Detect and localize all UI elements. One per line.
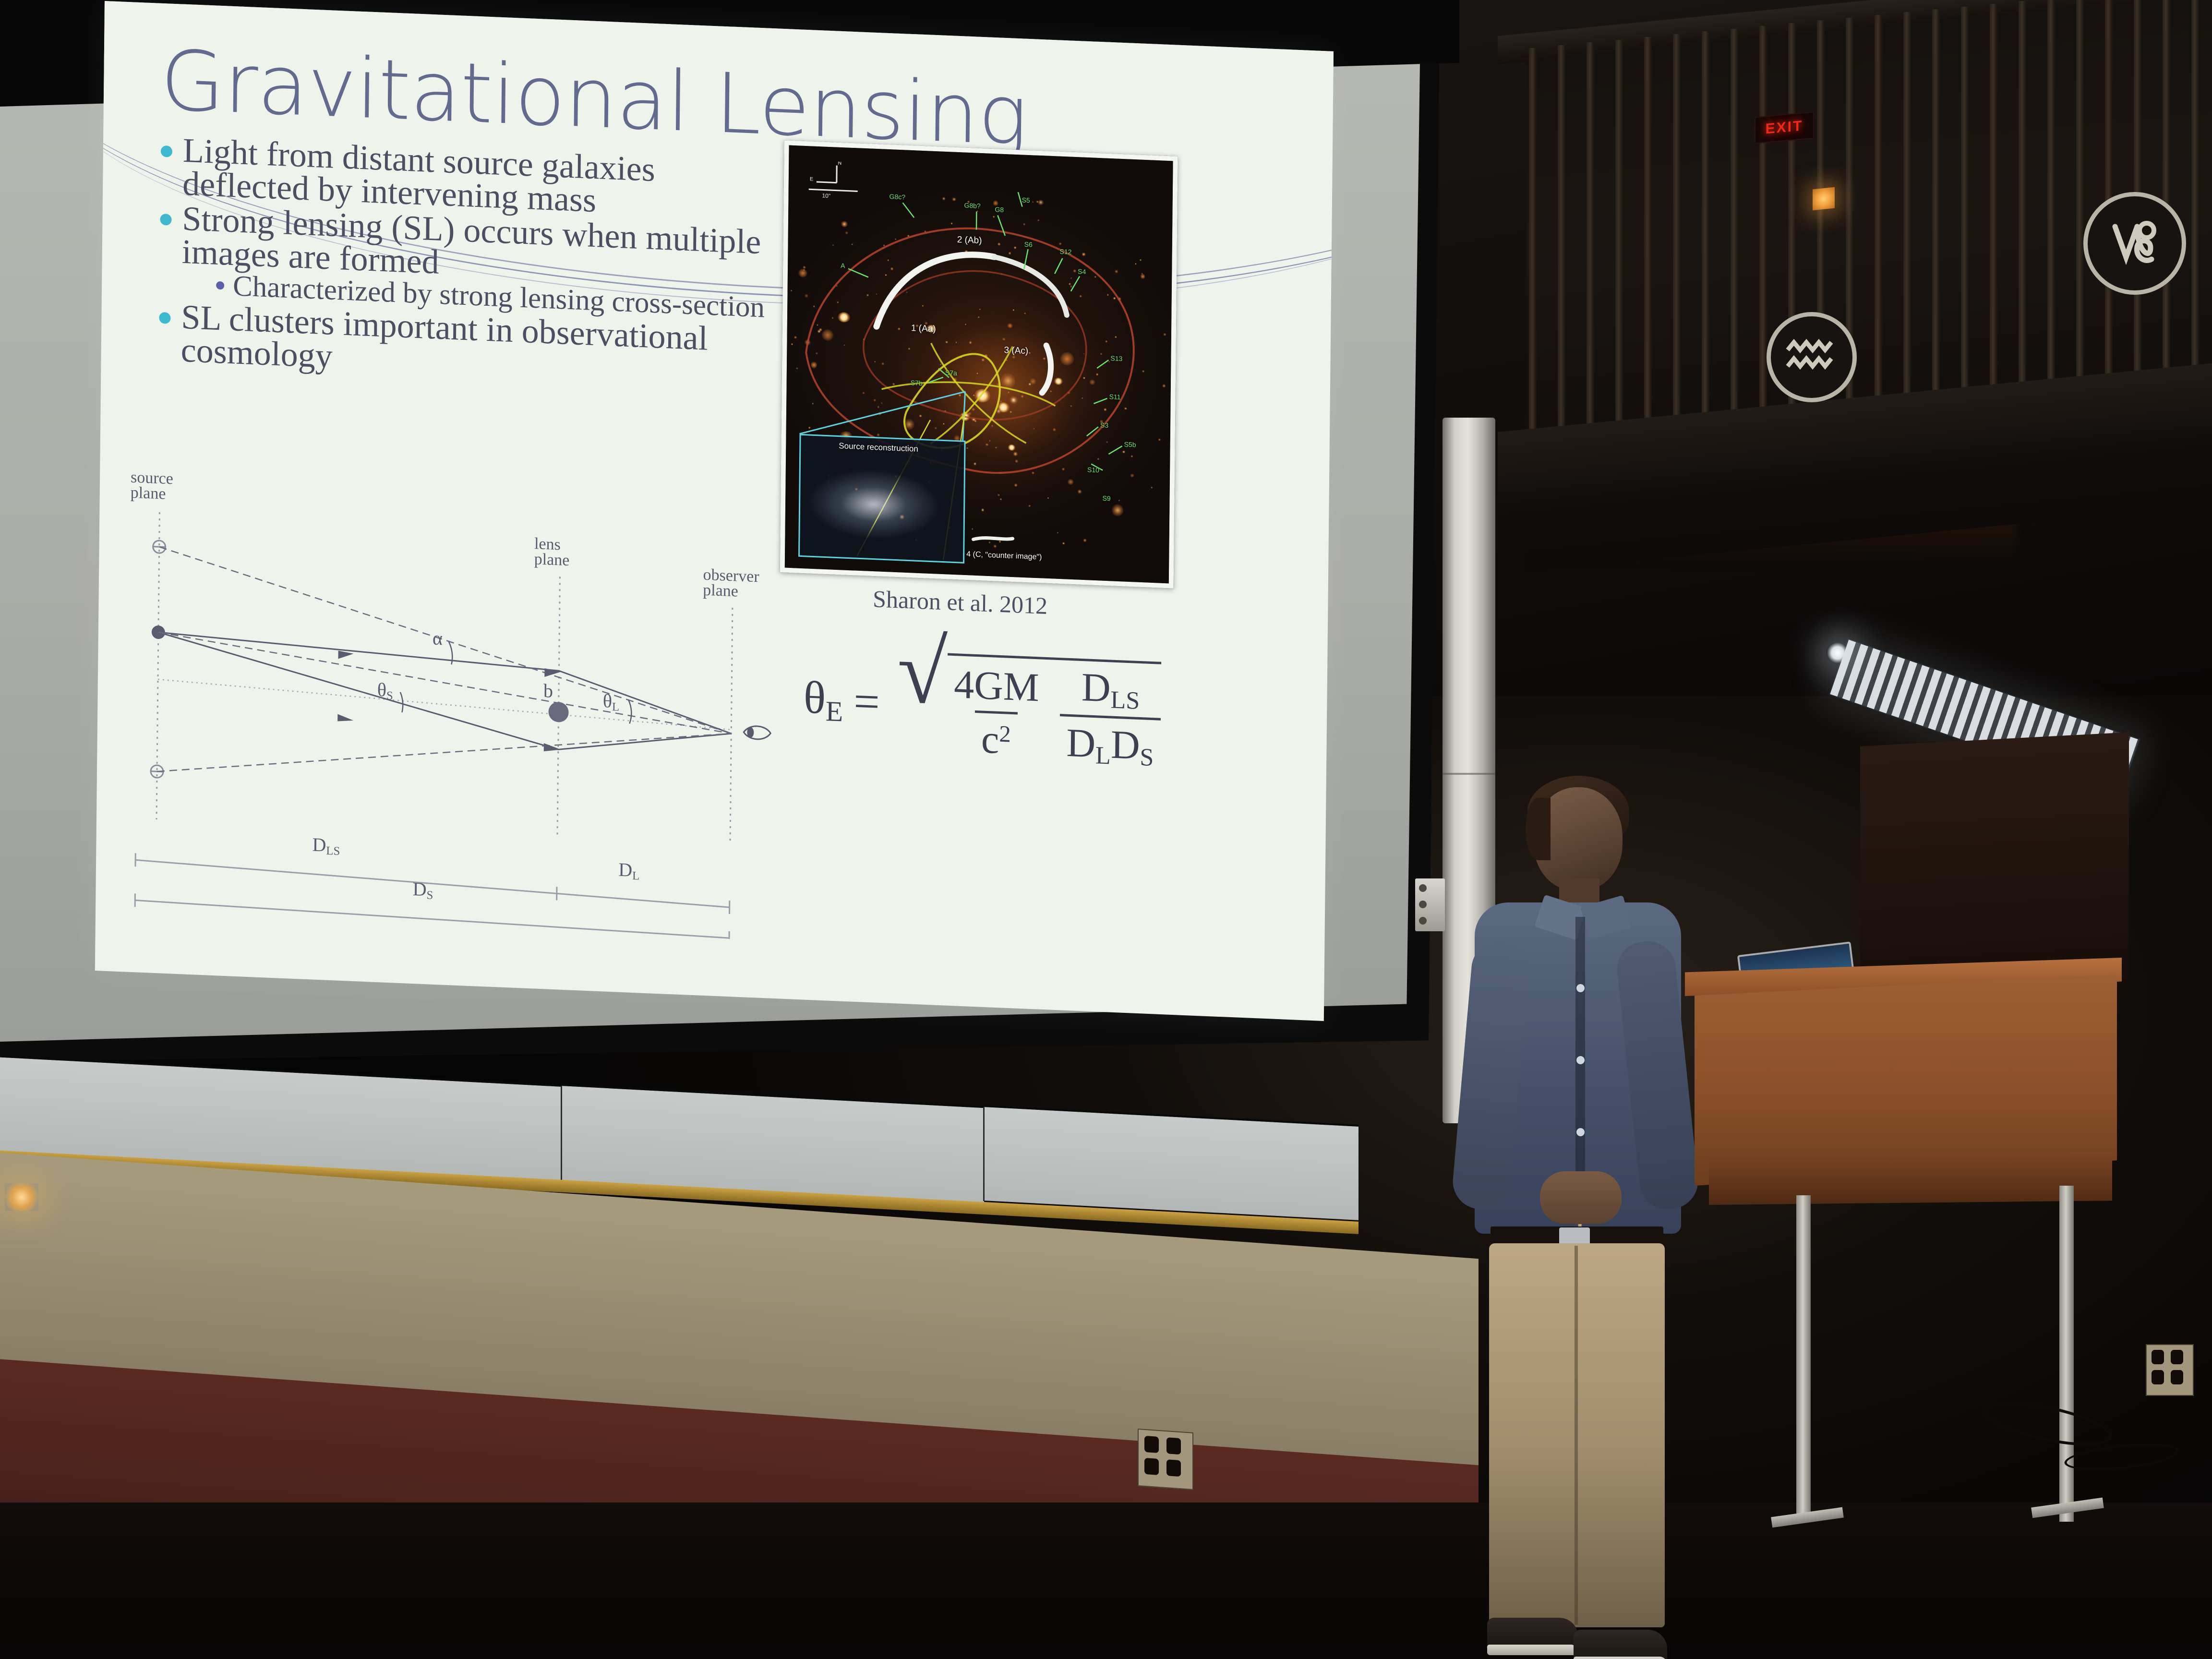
- sub-bullet-dot-icon: [216, 281, 224, 290]
- lensing-cluster-image: N E 10" 2 (Ab) 1 (Aa) 3 (Ac) 4 (C, "coun…: [780, 140, 1178, 589]
- equation-fraction-mass: 4GM c2: [947, 661, 1046, 765]
- source-plane-label: sourceplane: [131, 470, 173, 503]
- baluster: [1875, 15, 1882, 432]
- baluster: [1990, 4, 1997, 428]
- alpha-angle-label: α: [433, 629, 443, 648]
- svg-text:10": 10": [822, 192, 830, 199]
- column-bracket: [1415, 878, 1445, 931]
- baluster: [1615, 40, 1623, 439]
- baluster: [1731, 29, 1738, 436]
- equation-denominator-right: DLDS: [1059, 714, 1161, 772]
- baluster: [1587, 42, 1594, 440]
- presenter-hair-side: [1526, 798, 1551, 860]
- green-label: S10: [1087, 466, 1099, 474]
- green-label: A: [841, 262, 845, 269]
- baluster: [1702, 31, 1709, 436]
- equation-radical-icon: √: [896, 643, 948, 763]
- impact-parameter-label: b: [543, 682, 553, 700]
- aquarius-icon: [1767, 312, 1857, 402]
- slide-bullet-list: Light from distant source galaxies defle…: [158, 133, 770, 393]
- equation-numerator-right: DLS: [1074, 663, 1147, 717]
- observer-plane-label: observerplane: [703, 567, 759, 601]
- exit-sign: EXIT: [1755, 112, 1814, 144]
- floor: [0, 1503, 2212, 1659]
- baluster: [2191, 0, 2199, 422]
- bullet-dot-icon: [159, 312, 170, 324]
- podium-lower-panel: [1709, 1152, 2112, 1205]
- image-scale-bar: N E 10": [805, 160, 878, 204]
- capricorn-icon: [2083, 192, 2186, 295]
- theta-l-angle-label: θL: [603, 692, 620, 713]
- baluster: [1558, 45, 1565, 441]
- green-label: S4: [1078, 267, 1086, 276]
- green-label: G8: [995, 205, 1004, 214]
- amber-wall-light: [1813, 187, 1835, 211]
- arc-label-2: 2 (Ab): [957, 235, 982, 246]
- green-label: S7b: [911, 379, 923, 387]
- presenter-shirt-placket: [1575, 917, 1585, 1214]
- shirt-button: [1576, 1128, 1585, 1136]
- bullet-dot-icon: [161, 145, 172, 157]
- dls-distance-label: DLS: [312, 835, 340, 857]
- equation-numerator-left: 4GM: [947, 661, 1046, 713]
- equation-fraction-distance: DLS DLDS: [1059, 663, 1161, 772]
- green-label: S5b: [1124, 440, 1136, 448]
- green-label: S7a: [945, 369, 957, 377]
- podium-leg-left: [1796, 1195, 1811, 1522]
- green-label: G8c?: [890, 192, 906, 201]
- shirt-button: [1576, 1056, 1585, 1064]
- lecture-hall-photo: EXIT Gravitational Lensing: [0, 0, 2212, 1659]
- einstein-radius-equation: θE = √ 4GM c2 DLS DLDS: [803, 639, 1162, 772]
- ds-distance-label: DS: [413, 880, 433, 901]
- baluster: [1644, 37, 1652, 438]
- green-label: S9: [1102, 494, 1110, 503]
- shoe-sole-left: [1487, 1645, 1578, 1655]
- shirt-button: [1576, 984, 1585, 992]
- wall-power-outlet-far-right[interactable]: [2146, 1344, 2194, 1396]
- baluster: [1932, 9, 1940, 430]
- trouser-seam: [1575, 1246, 1578, 1625]
- ceiling-spot-light: [1827, 642, 1849, 663]
- presentation-slide: Gravitational Lensing Light from distant…: [95, 1, 1334, 1021]
- green-label: G8b?: [964, 202, 980, 210]
- bullet-dot-icon: [160, 214, 171, 226]
- green-label: S11: [1109, 393, 1121, 401]
- image-credit: Sharon et al. 2012: [873, 585, 1047, 620]
- whiteboard-divider-1: [561, 1086, 562, 1182]
- presenter: [1445, 758, 1714, 1575]
- projection-screen: Gravitational Lensing Light from distant…: [0, 0, 1469, 1071]
- green-label: S6: [1024, 240, 1033, 249]
- source-reconstruction-inset: [798, 434, 966, 564]
- svg-text:E: E: [810, 176, 813, 182]
- baluster: [1529, 48, 1537, 442]
- whiteboard-divider-2: [983, 1107, 985, 1201]
- lensing-geometry-diagram: sourceplane lensplane observerplane α θS…: [110, 472, 777, 941]
- green-label: S12: [1060, 248, 1072, 256]
- arc-label-1: 1 (Aa): [911, 323, 936, 335]
- dl-distance-label: DL: [618, 861, 639, 882]
- wall-power-outlet-right[interactable]: [1138, 1429, 1193, 1490]
- baluster: [1673, 34, 1681, 437]
- arc-label-3: 3 (Ac): [1004, 345, 1028, 357]
- baluster: [1759, 26, 1767, 435]
- whiteboard-panel-3: [984, 1105, 1358, 1220]
- baluster: [2076, 0, 2084, 426]
- equation-denominator-left: c2: [974, 710, 1018, 764]
- green-label: S5: [1022, 196, 1030, 204]
- baluster: [1961, 7, 1969, 429]
- podium-leg-right: [2059, 1186, 2074, 1522]
- baluster: [2047, 0, 2055, 426]
- corner-light-glow: [5, 1183, 38, 1211]
- shoe-sole-right: [1574, 1657, 1667, 1659]
- lens-plane-label: lensplane: [534, 536, 570, 569]
- equation-theta-e: θE: [803, 670, 843, 728]
- equation-equals: =: [854, 674, 880, 728]
- green-label: S13: [1110, 354, 1122, 362]
- presenter-hands: [1540, 1171, 1622, 1224]
- green-label: S3: [1100, 421, 1108, 429]
- theta-s-angle-label: θS: [377, 681, 393, 702]
- baluster: [1903, 12, 1911, 431]
- presenter-shoe-right: [1574, 1630, 1667, 1659]
- baluster: [2019, 1, 2026, 427]
